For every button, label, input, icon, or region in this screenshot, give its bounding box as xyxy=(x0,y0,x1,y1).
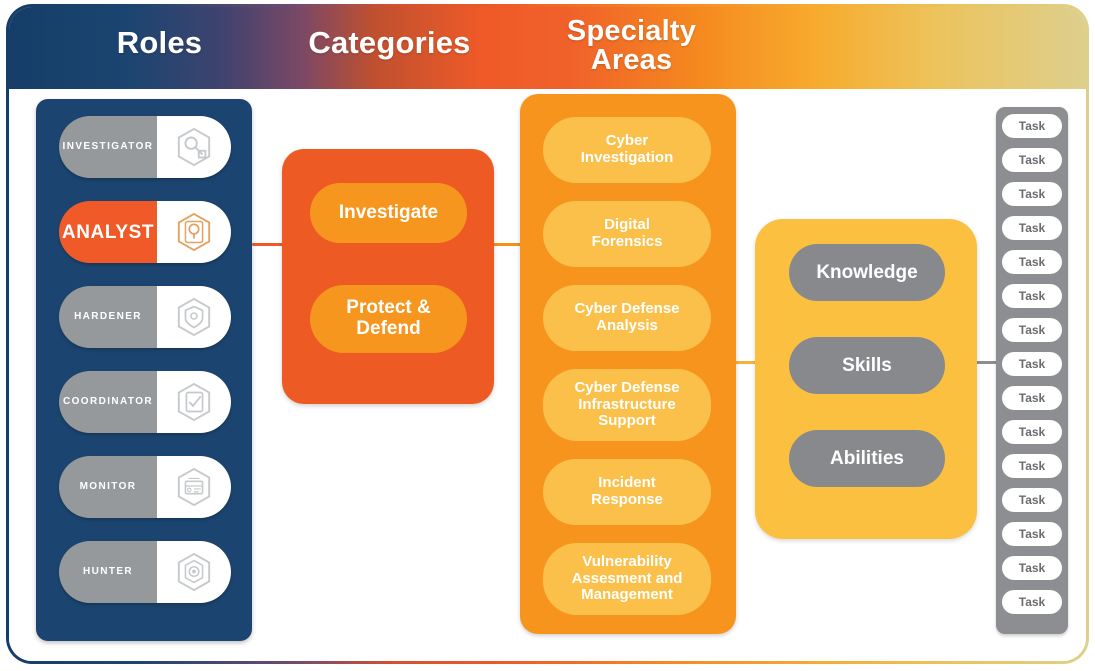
role-label: INVESTIGATOR xyxy=(63,142,154,152)
task-item[interactable]: Task xyxy=(1002,182,1062,206)
category-item-investigate[interactable]: Investigate xyxy=(310,183,467,243)
task-item[interactable]: Task xyxy=(1002,284,1062,308)
task-item[interactable]: Task xyxy=(1002,454,1062,478)
role-icon-slot xyxy=(157,456,231,518)
task-item[interactable]: Task xyxy=(1002,114,1062,138)
role-item-hardener[interactable]: HARDENER xyxy=(59,286,231,348)
roles-panel: INVESTIGATOR ANALYST xyxy=(36,99,252,641)
ksa-item-skills[interactable]: Skills xyxy=(789,337,945,394)
role-label-bg: HARDENER xyxy=(59,286,157,348)
role-label-bg: HUNTER xyxy=(59,541,157,603)
specialty-areas-panel: Cyber Investigation Digital Forensics Cy… xyxy=(520,94,736,634)
specialty-item-cyber-defense-infrastructure-support[interactable]: Cyber Defense Infrastructure Support xyxy=(543,369,711,441)
task-item[interactable]: Task xyxy=(1002,216,1062,240)
connector-specialty-to-ksa xyxy=(735,361,757,364)
hex-target-icon xyxy=(175,552,213,592)
role-icon-slot xyxy=(157,371,231,433)
hex-dashboard-icon xyxy=(175,467,213,507)
ksa-item-knowledge[interactable]: Knowledge xyxy=(789,244,945,301)
task-item[interactable]: Task xyxy=(1002,556,1062,580)
connector-roles-to-categories xyxy=(252,243,284,246)
hex-magnifier-wrench-icon xyxy=(175,127,213,167)
role-label-bg: INVESTIGATOR xyxy=(59,116,157,178)
task-item[interactable]: Task xyxy=(1002,318,1062,342)
ksa-item-abilities[interactable]: Abilities xyxy=(789,430,945,487)
task-item[interactable]: Task xyxy=(1002,386,1062,410)
role-item-analyst[interactable]: ANALYST xyxy=(59,201,231,263)
role-item-hunter[interactable]: HUNTER xyxy=(59,541,231,603)
specialty-item-cyber-defense-analysis[interactable]: Cyber Defense Analysis xyxy=(543,285,711,351)
connector-categories-to-specialty xyxy=(493,243,522,246)
role-icon-slot xyxy=(157,201,231,263)
task-item[interactable]: Task xyxy=(1002,488,1062,512)
task-item[interactable]: Task xyxy=(1002,352,1062,376)
header-title-categories: Categories xyxy=(287,27,492,58)
hex-shield-lock-icon xyxy=(175,297,213,337)
connector-ksa-to-tasks xyxy=(975,361,998,364)
role-label: COORDINATOR xyxy=(63,397,153,407)
diagram-canvas: INVESTIGATOR ANALYST xyxy=(9,89,1086,661)
role-label-bg: ANALYST xyxy=(59,201,157,263)
ksa-panel: Knowledge Skills Abilities xyxy=(755,219,977,539)
role-icon-slot xyxy=(157,541,231,603)
tasks-panel: Task Task Task Task Task Task Task Task … xyxy=(996,107,1068,634)
hex-clipboard-check-icon xyxy=(175,382,213,422)
role-label: ANALYST xyxy=(62,223,154,242)
role-item-monitor[interactable]: MONITOR xyxy=(59,456,231,518)
role-label-bg: COORDINATOR xyxy=(59,371,157,433)
task-item[interactable]: Task xyxy=(1002,590,1062,614)
header-title-roles: Roles xyxy=(87,27,232,58)
role-icon-slot xyxy=(157,116,231,178)
diagram-header: Roles Categories Specialty Areas xyxy=(9,7,1086,89)
role-item-coordinator[interactable]: COORDINATOR xyxy=(59,371,231,433)
role-label: MONITOR xyxy=(80,482,137,492)
role-label-bg: MONITOR xyxy=(59,456,157,518)
specialty-item-digital-forensics[interactable]: Digital Forensics xyxy=(543,201,711,267)
hex-magnifier-badge-icon xyxy=(175,212,213,252)
role-label: HUNTER xyxy=(83,567,133,577)
specialty-item-vulnerability-assesment-and-management[interactable]: Vulnerability Assesment and Management xyxy=(543,543,711,615)
task-item[interactable]: Task xyxy=(1002,420,1062,444)
task-item[interactable]: Task xyxy=(1002,250,1062,274)
diagram-frame: Roles Categories Specialty Areas INVESTI… xyxy=(6,4,1089,664)
task-item[interactable]: Task xyxy=(1002,522,1062,546)
categories-panel: Investigate Protect & Defend xyxy=(282,149,494,404)
specialty-item-incident-response[interactable]: Incident Response xyxy=(543,459,711,525)
header-title-specialty-areas: Specialty Areas xyxy=(519,17,744,75)
role-item-investigator[interactable]: INVESTIGATOR xyxy=(59,116,231,178)
role-icon-slot xyxy=(157,286,231,348)
task-item[interactable]: Task xyxy=(1002,148,1062,172)
category-item-protect-defend[interactable]: Protect & Defend xyxy=(310,285,467,353)
role-label: HARDENER xyxy=(74,312,142,322)
diagram-frame-inner: Roles Categories Specialty Areas INVESTI… xyxy=(9,7,1086,661)
specialty-item-cyber-investigation[interactable]: Cyber Investigation xyxy=(543,117,711,183)
